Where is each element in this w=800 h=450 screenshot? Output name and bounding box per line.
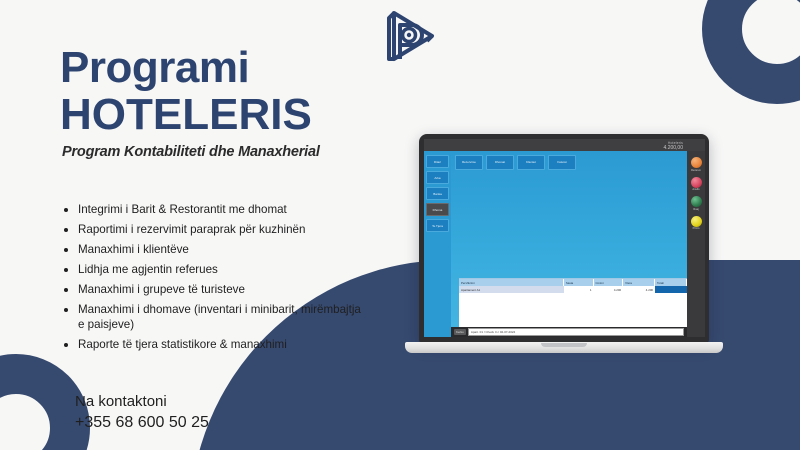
list-item: Integrimi i Barit & Restorantit me dhoma… <box>62 203 362 218</box>
app-statusbar: Kerko Apart. 01 / Check In / 02-07-2024 <box>451 327 687 337</box>
laptop-mockup: Hoteleris 4.200,00 Ditari Arka Banka Dho… <box>405 134 723 366</box>
search-input[interactable]: Apart. 01 / Check In / 02-07-2024 <box>468 328 684 336</box>
sidebar-item-banka[interactable]: Banka <box>426 187 449 200</box>
list-item: Manaxhimi i grupeve të turisteve <box>62 283 362 298</box>
rezervo-orb-icon <box>691 157 702 168</box>
column-header-totali: Totali <box>655 279 687 286</box>
tab-rezervime[interactable]: Rezervime <box>455 155 483 170</box>
ruaj-orb-icon <box>691 196 702 207</box>
table-row[interactable]: Apartament A1 1 4.200 4.200 <box>459 286 687 293</box>
app-titlebar: Hoteleris 4.200,00 <box>424 139 705 151</box>
app-tabbar: Rezervime Dhomat Klientet Faturat <box>451 151 687 170</box>
printo-orb-icon <box>691 216 702 227</box>
action-printo[interactable]: Printo <box>691 216 702 231</box>
table-header-row: Pershkrimi Sasia Cmimi Vlera Totali <box>459 279 687 286</box>
sidebar-item-te-tjera[interactable]: Te Tjera <box>426 219 449 232</box>
list-item: Manaxhimi i dhomave (inventari i minibar… <box>62 303 362 332</box>
column-header-pershkrimi: Pershkrimi <box>459 279 564 286</box>
laptop-base <box>405 342 723 353</box>
app-titlebar-total: 4.200,00 <box>664 145 683 151</box>
action-rezervo[interactable]: Rezervo <box>691 157 702 172</box>
decorative-ring-top-right <box>702 0 800 104</box>
app-data-grid: Pershkrimi Sasia Cmimi Vlera Totali Apar… <box>459 278 687 327</box>
search-button[interactable]: Kerko <box>454 329 466 335</box>
list-item: Raporte të tjera statistikore & manaxhim… <box>62 338 362 353</box>
list-item: Raportimi i rezervimit paraprak për kuzh… <box>62 223 362 238</box>
action-printo-label: Printo <box>693 227 700 230</box>
list-item: Manaxhimi i klientëve <box>62 243 362 258</box>
column-header-cmimi: Cmimi <box>594 279 624 286</box>
feature-list: Integrimi i Barit & Restorantit me dhoma… <box>62 203 362 358</box>
cell-vlera: 4.200 <box>623 286 655 293</box>
sidebar-item-arka[interactable]: Arka <box>426 171 449 184</box>
tab-klientet[interactable]: Klientet <box>517 155 545 170</box>
action-ruaj[interactable]: Ruaj <box>691 196 702 211</box>
sidebar-item-dhoma[interactable]: Dhoma <box>426 203 449 216</box>
laptop-lid: Hoteleris 4.200,00 Ditari Arka Banka Dho… <box>419 134 709 343</box>
headline-block: Programi HOTELERIS Program Kontabiliteti… <box>60 44 390 160</box>
action-anullo-label: Anullo <box>692 188 699 191</box>
app-sidebar-left: Ditari Arka Banka Dhoma Te Tjera <box>424 151 451 337</box>
laptop-notch <box>541 343 587 347</box>
tab-dhomat[interactable]: Dhomat <box>486 155 514 170</box>
app-screen: Hoteleris 4.200,00 Ditari Arka Banka Dho… <box>424 139 705 337</box>
action-anullo[interactable]: Anullo <box>691 177 702 192</box>
page-title-line1: Programi <box>60 44 390 91</box>
tab-faturat[interactable]: Faturat <box>548 155 576 170</box>
app-body: Ditari Arka Banka Dhoma Te Tjera Rezervi… <box>424 151 705 337</box>
list-item: Lidhja me agjentin referues <box>62 263 362 278</box>
contact-block: Na kontaktoni +355 68 600 50 25 <box>75 392 209 433</box>
app-main: Rezervime Dhomat Klientet Faturat Pershk… <box>451 151 687 337</box>
sidebar-item-ditari[interactable]: Ditari <box>426 155 449 168</box>
action-rezervo-label: Rezervo <box>691 169 701 172</box>
app-canvas-area <box>451 170 687 278</box>
app-sidebar-right: Rezervo Anullo Ruaj Printo <box>687 151 705 337</box>
page-subtitle: Program Kontabiliteti dhe Manaxherial <box>62 144 390 160</box>
action-ruaj-label: Ruaj <box>693 208 698 211</box>
cell-pershkrimi: Apartament A1 <box>459 286 564 293</box>
anullo-orb-icon <box>691 177 702 188</box>
cell-totali <box>655 286 687 293</box>
page-title-line2: HOTELERIS <box>60 91 390 138</box>
contact-label: Na kontaktoni <box>75 392 209 412</box>
column-header-vlera: Vlera <box>623 279 655 286</box>
cell-cmimi: 4.200 <box>594 286 624 293</box>
contact-phone[interactable]: +355 68 600 50 25 <box>75 412 209 433</box>
cell-sasia: 1 <box>564 286 594 293</box>
column-header-sasia: Sasia <box>564 279 594 286</box>
